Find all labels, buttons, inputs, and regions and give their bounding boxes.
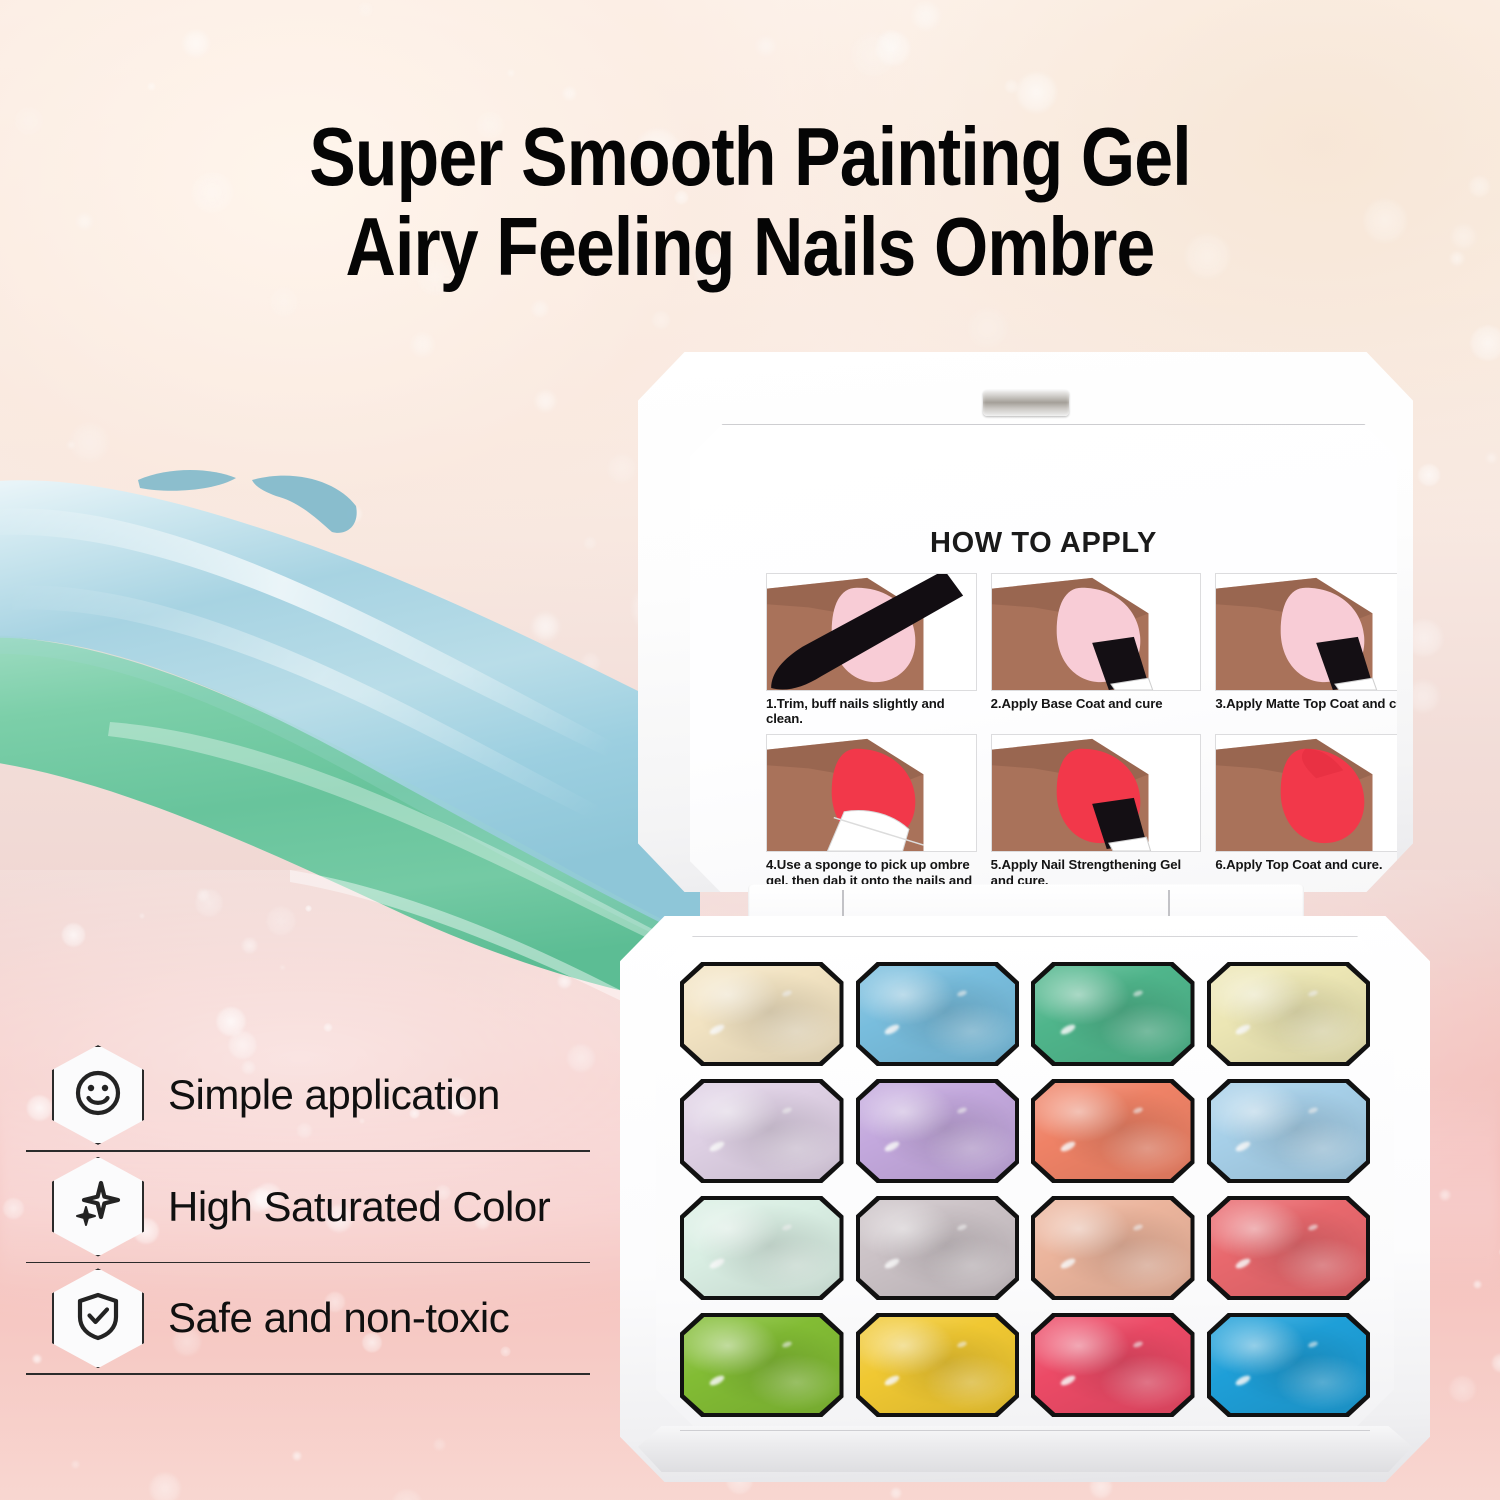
feature-label: Safe and non-toxic xyxy=(168,1294,509,1342)
feature-label: Simple application xyxy=(168,1071,500,1119)
gloss-highlight xyxy=(884,1022,901,1036)
palette-lid: HOW TO APPLY 1.Trim, buff nails slightly… xyxy=(638,352,1413,892)
feature-list: Simple application High Saturated Color … xyxy=(26,1040,606,1375)
instruction-step: 6.Apply Top Coat and cure. xyxy=(1215,734,1426,903)
gloss-highlight xyxy=(708,1022,725,1036)
gloss-highlight xyxy=(884,1373,901,1387)
gel-surface xyxy=(1211,1083,1367,1179)
gel-well-peach-nude[interactable] xyxy=(1031,1196,1195,1300)
step-illustration-red-nail xyxy=(1215,734,1426,852)
instruction-step: 4.Use a sponge to pick up ombre gel, the… xyxy=(766,734,977,903)
step-illustration-sponge-red-nail xyxy=(766,734,977,852)
feature-item: Simple application xyxy=(26,1040,606,1150)
gloss-highlight xyxy=(957,1223,968,1231)
gloss-highlight xyxy=(1059,1256,1076,1270)
gloss-highlight xyxy=(957,989,968,997)
step-illustration-brush-pink-nail xyxy=(991,573,1202,691)
gel-surface xyxy=(1035,1083,1191,1179)
gloss-highlight xyxy=(884,1256,901,1270)
gloss-highlight xyxy=(781,1340,792,1348)
step-caption: 6.Apply Top Coat and cure. xyxy=(1215,857,1426,872)
gloss-highlight xyxy=(1235,1022,1252,1036)
gloss-highlight xyxy=(1059,1139,1076,1153)
feature-divider xyxy=(26,1373,590,1375)
gel-well-salmon-red[interactable] xyxy=(1207,1196,1371,1300)
palette-base-lip xyxy=(630,1426,1420,1472)
palette-base-seam xyxy=(680,1430,1370,1431)
shield-check-icon xyxy=(72,1290,124,1347)
headline-line-2: Airy Feeling Nails Ombre xyxy=(120,205,1380,290)
gel-surface xyxy=(684,1200,840,1296)
feature-item: Safe and non-toxic xyxy=(26,1263,606,1373)
gel-well-coral-orange[interactable] xyxy=(1031,1079,1195,1183)
smiley-icon xyxy=(72,1067,124,1124)
instruction-step: 2.Apply Base Coat and cure xyxy=(991,573,1202,726)
gel-surface xyxy=(860,1200,1016,1296)
step-illustration-brush-red-nail xyxy=(991,734,1202,852)
gloss-highlight xyxy=(1132,989,1143,997)
gloss-highlight xyxy=(1235,1256,1252,1270)
gloss-highlight xyxy=(884,1139,901,1153)
gel-well-azure-blue[interactable] xyxy=(1207,1313,1371,1417)
palette-lid-insert: HOW TO APPLY 1.Trim, buff nails slightly… xyxy=(690,424,1397,894)
gloss-highlight xyxy=(1059,1022,1076,1036)
clasp-icon[interactable] xyxy=(983,390,1069,416)
gloss-highlight xyxy=(1235,1139,1252,1153)
instruction-step: 1.Trim, buff nails slightly and clean. xyxy=(766,573,977,726)
gel-surface xyxy=(1211,1317,1367,1413)
instruction-steps-grid: 1.Trim, buff nails slightly and clean. 2… xyxy=(766,573,1426,903)
gel-well-lavender-purple[interactable] xyxy=(856,1079,1020,1183)
sparkle-icon xyxy=(71,1177,125,1236)
gloss-highlight xyxy=(708,1139,725,1153)
gel-surface xyxy=(1211,1200,1367,1296)
gel-surface xyxy=(860,966,1016,1062)
gloss-highlight xyxy=(1308,989,1319,997)
gel-well-pale-lilac[interactable] xyxy=(680,1079,844,1183)
gel-surface xyxy=(684,966,840,1062)
step-caption: 1.Trim, buff nails slightly and clean. xyxy=(766,696,977,726)
gel-well-sky-blue[interactable] xyxy=(856,962,1020,1066)
step-illustration-nail-file xyxy=(766,573,977,691)
gloss-highlight xyxy=(957,1340,968,1348)
gloss-highlight xyxy=(708,1256,725,1270)
headline-line-1: Super Smooth Painting Gel xyxy=(120,118,1380,197)
gel-well-mint-white[interactable] xyxy=(680,1196,844,1300)
gel-color-wells-grid[interactable] xyxy=(680,962,1370,1417)
gel-surface xyxy=(1035,1317,1191,1413)
gel-swoosh-illustration xyxy=(0,440,720,1060)
nail-gel-palette-case[interactable]: HOW TO APPLY 1.Trim, buff nails slightly… xyxy=(620,330,1430,1495)
gloss-highlight xyxy=(1059,1373,1076,1387)
gel-well-pale-yellow[interactable] xyxy=(1207,962,1371,1066)
gel-well-warm-grey[interactable] xyxy=(856,1196,1020,1300)
page-headline: Super Smooth Painting Gel Airy Feeling N… xyxy=(0,118,1500,290)
gel-well-baby-blue[interactable] xyxy=(1207,1079,1371,1183)
gel-surface xyxy=(860,1083,1016,1179)
gel-well-golden-yellow[interactable] xyxy=(856,1313,1020,1417)
gloss-highlight xyxy=(1132,1340,1143,1348)
gloss-highlight xyxy=(708,1373,725,1387)
gloss-highlight xyxy=(781,1223,792,1231)
gloss-highlight xyxy=(1132,1223,1143,1231)
gel-surface xyxy=(684,1317,840,1413)
gloss-highlight xyxy=(1132,1106,1143,1114)
feature-badge xyxy=(52,1045,144,1145)
gloss-highlight xyxy=(1308,1106,1319,1114)
feature-badge xyxy=(52,1268,144,1368)
gel-surface xyxy=(684,1083,840,1179)
feature-badge xyxy=(52,1157,144,1257)
instruction-step: 3.Apply Matte Top Coat and cure. xyxy=(1215,573,1426,726)
feature-item: High Saturated Color xyxy=(26,1152,606,1262)
gel-well-raspberry-pink[interactable] xyxy=(1031,1313,1195,1417)
instruction-step: 5.Apply Nail Strengthening Gel and cure. xyxy=(991,734,1202,903)
gel-well-cream-ivory[interactable] xyxy=(680,962,844,1066)
gloss-highlight xyxy=(781,989,792,997)
gel-surface xyxy=(860,1317,1016,1413)
feature-label: High Saturated Color xyxy=(168,1183,550,1231)
gel-well-apple-green[interactable] xyxy=(680,1313,844,1417)
gel-well-jade-green[interactable] xyxy=(1031,962,1195,1066)
gloss-highlight xyxy=(1235,1373,1252,1387)
gloss-highlight xyxy=(1308,1340,1319,1348)
gel-surface xyxy=(1035,1200,1191,1296)
step-caption: 3.Apply Matte Top Coat and cure. xyxy=(1215,696,1426,711)
instructions-title: HOW TO APPLY xyxy=(690,527,1397,560)
gloss-highlight xyxy=(957,1106,968,1114)
step-illustration-brush-pink-nail xyxy=(1215,573,1426,691)
gloss-highlight xyxy=(1308,1223,1319,1231)
step-caption: 2.Apply Base Coat and cure xyxy=(991,696,1202,711)
gloss-highlight xyxy=(781,1106,792,1114)
gel-surface xyxy=(1035,966,1191,1062)
gel-surface xyxy=(1211,966,1367,1062)
